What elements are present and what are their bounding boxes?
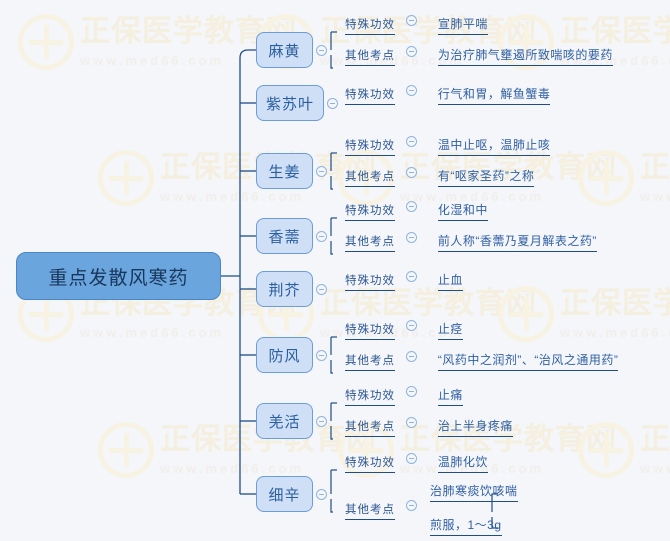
- detail-subvalue-row: 煎服，1～3g: [430, 516, 502, 536]
- detail-label: 其他考点: [345, 233, 395, 252]
- detail-label: 特殊功效: [345, 272, 395, 291]
- minus-circle-icon[interactable]: [316, 45, 327, 56]
- minus-circle-icon[interactable]: [406, 453, 417, 464]
- branch-label: 荆芥: [268, 279, 300, 300]
- detail-row: 其他考点 为治疗肺气壅遏所致喘咳的要药: [345, 46, 613, 66]
- branch-node-xiangru[interactable]: 香薷: [256, 218, 313, 254]
- detail-value: 前人称“香薷乃夏月解表之药”: [438, 232, 597, 252]
- detail-label: 其他考点: [345, 352, 395, 371]
- root-node[interactable]: 重点发散风寒药: [16, 252, 221, 300]
- minus-circle-icon[interactable]: [316, 231, 327, 242]
- branch-node-jingjie[interactable]: 荆芥: [256, 271, 313, 307]
- detail-label: 特殊功效: [345, 86, 395, 105]
- detail-label: 特殊功效: [345, 454, 395, 473]
- detail-value: 宣肺平喘: [438, 15, 488, 35]
- minus-circle-icon[interactable]: [406, 15, 417, 26]
- minus-circle-icon[interactable]: [316, 166, 327, 177]
- branch-label: 麻黄: [268, 40, 300, 61]
- minus-circle-icon[interactable]: [406, 320, 417, 331]
- branch-node-qianghuo[interactable]: 羌活: [256, 403, 313, 439]
- detail-row: 其他考点 前人称“香薷乃夏月解表之药”: [345, 232, 597, 252]
- root-label: 重点发散风寒药: [48, 263, 188, 290]
- detail-row: 其他考点 “风药中之润剂”、“治风之通用药”: [345, 351, 618, 371]
- minus-circle-icon[interactable]: [406, 136, 417, 147]
- branch-node-zisuye[interactable]: 紫苏叶: [256, 85, 324, 121]
- detail-label: 特殊功效: [345, 202, 395, 221]
- minus-circle-icon[interactable]: [406, 232, 417, 243]
- detail-row: 特殊功效 止血: [345, 271, 463, 291]
- branch-label: 细辛: [268, 484, 300, 505]
- branch-label: 羌活: [268, 411, 300, 432]
- detail-value: 为治疗肺气壅遏所致喘咳的要药: [438, 46, 613, 66]
- minus-circle-icon[interactable]: [316, 284, 327, 295]
- detail-value: 治肺寒痰饮咳喘: [430, 482, 518, 502]
- detail-row: 特殊功效 化湿和中: [345, 201, 488, 221]
- detail-value: 止血: [438, 271, 463, 291]
- minus-circle-icon[interactable]: [316, 350, 327, 361]
- minus-circle-icon[interactable]: [327, 98, 338, 109]
- branch-node-mahuang[interactable]: 麻黄: [256, 32, 313, 68]
- detail-label: 特殊功效: [345, 321, 395, 340]
- detail-subvalue-row: 治肺寒痰饮咳喘: [430, 482, 518, 502]
- minus-circle-icon[interactable]: [406, 167, 417, 178]
- detail-row: 特殊功效 行气和胃，解鱼蟹毒: [345, 85, 550, 105]
- detail-row: 特殊功效 止痛: [345, 386, 463, 406]
- minus-circle-icon[interactable]: [406, 351, 417, 362]
- branch-node-xixin[interactable]: 细辛: [256, 476, 313, 512]
- minus-circle-icon[interactable]: [406, 85, 417, 96]
- mindmap-canvas: 正保医学教育网 www.med66.com 正保医学教育网 www.med66.…: [0, 0, 670, 541]
- detail-label: 其他考点: [345, 418, 395, 437]
- detail-label: 特殊功效: [345, 16, 395, 35]
- minus-circle-icon[interactable]: [406, 417, 417, 428]
- detail-value: 行气和胃，解鱼蟹毒: [438, 85, 551, 105]
- detail-row: 特殊功效 止痉: [345, 320, 463, 340]
- detail-label: 特殊功效: [345, 387, 395, 406]
- minus-circle-icon[interactable]: [406, 201, 417, 212]
- minus-circle-icon[interactable]: [406, 386, 417, 397]
- detail-label: 特殊功效: [345, 137, 395, 156]
- minus-circle-icon[interactable]: [406, 271, 417, 282]
- branch-label: 防风: [268, 345, 300, 366]
- branch-label: 紫苏叶: [266, 93, 314, 114]
- detail-row: 其他考点 有“呕家圣药”之称: [345, 167, 534, 187]
- minus-circle-icon[interactable]: [316, 489, 327, 500]
- minus-circle-icon[interactable]: [316, 416, 327, 427]
- detail-value: 止痛: [438, 386, 463, 406]
- branch-label: 香薷: [268, 226, 300, 247]
- detail-label: 其他考点: [345, 168, 395, 187]
- detail-value: 止痉: [438, 320, 463, 340]
- detail-value: 温肺化饮: [438, 453, 488, 473]
- detail-label: 其他考点: [345, 501, 395, 520]
- minus-circle-icon[interactable]: [406, 46, 417, 57]
- detail-row: 特殊功效 宣肺平喘: [345, 15, 488, 35]
- detail-value: 有“呕家圣药”之称: [438, 167, 535, 187]
- detail-value: 治上半身疼痛: [438, 417, 513, 437]
- detail-label: 其他考点: [345, 47, 395, 66]
- branch-node-fangfeng[interactable]: 防风: [256, 337, 313, 373]
- detail-value: 温中止呕，温肺止咳: [438, 136, 551, 156]
- branch-node-shengjiang[interactable]: 生姜: [256, 153, 313, 189]
- detail-value: 煎服，1～3g: [430, 516, 502, 536]
- detail-value: 化湿和中: [438, 201, 488, 221]
- detail-row: 特殊功效 温肺化饮: [345, 453, 488, 473]
- detail-row: 其他考点: [345, 500, 410, 520]
- detail-row: 其他考点 治上半身疼痛: [345, 417, 513, 437]
- branch-label: 生姜: [268, 161, 300, 182]
- detail-value: “风药中之润剂”、“治风之通用药”: [438, 351, 619, 371]
- detail-row: 特殊功效 温中止呕，温肺止咳: [345, 136, 550, 156]
